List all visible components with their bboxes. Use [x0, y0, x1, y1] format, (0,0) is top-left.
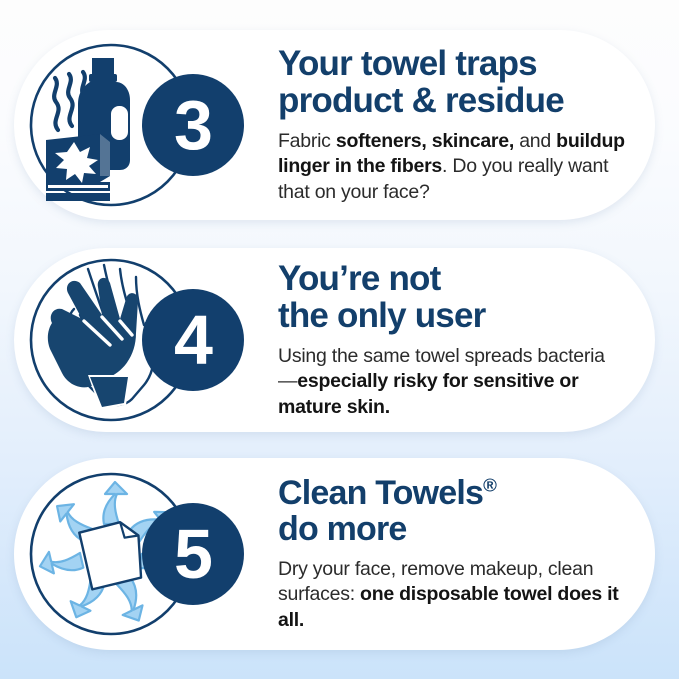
step-number-badge-5: 5: [142, 503, 244, 605]
infographic-board: 3 Your towel traps product & residue Fab…: [0, 0, 679, 679]
icon-cluster-5: 5: [14, 458, 250, 650]
step-number-4: 4: [174, 305, 212, 375]
step-number-3: 3: [174, 90, 212, 160]
card-headline-3: Your towel traps product & residue: [278, 45, 629, 119]
card-headline-5: Clean Towels®do more: [278, 475, 629, 547]
card-text-4: You’re not the only user Using the same …: [250, 260, 655, 421]
registered-trademark-icon: ®: [483, 474, 497, 495]
headline-suffix: do more: [278, 510, 407, 548]
card-text-5: Clean Towels®do more Dry your face, remo…: [250, 475, 655, 634]
info-card-5: 5 Clean Towels®do more Dry your face, re…: [14, 458, 655, 650]
info-card-3: 3 Your towel traps product & residue Fab…: [14, 30, 655, 220]
card-text-3: Your towel traps product & residue Fabri…: [250, 45, 655, 206]
card-body-3: Fabric softeners, skincare, and buildup …: [278, 129, 629, 206]
info-card-4: 4 You’re not the only user Using the sam…: [14, 248, 655, 432]
card-headline-4: You’re not the only user: [278, 260, 629, 334]
icon-cluster-4: 4: [14, 248, 250, 432]
card-body-4: Using the same towel spreads bacteria —e…: [278, 344, 629, 421]
card-body-5: Dry your face, remove makeup, clean surf…: [278, 557, 629, 634]
step-number-badge-3: 3: [142, 74, 244, 176]
step-number-badge-4: 4: [142, 289, 244, 391]
brand-name: Clean Towels: [278, 474, 483, 512]
step-number-5: 5: [174, 519, 212, 589]
icon-cluster-3: 3: [14, 30, 250, 220]
